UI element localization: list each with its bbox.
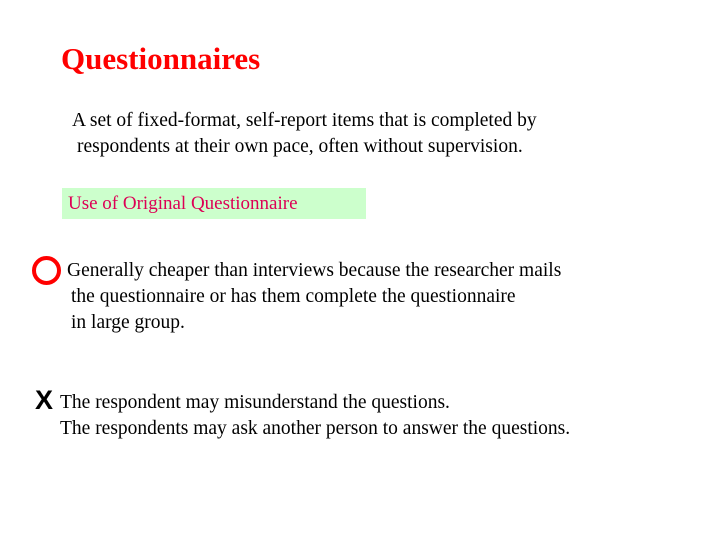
bullet-1-line-2: the questionnaire or has them complete t… [67,284,697,310]
bullet-1-text: Generally cheaper than interviews becaus… [67,258,697,336]
bullet-2-line-2: The respondents may ask another person t… [60,416,705,442]
bullet-2-text: The respondent may misunderstand the que… [60,390,705,442]
bullet-1-line-1: Generally cheaper than interviews becaus… [67,258,697,284]
black-x-icon: X [31,386,57,414]
subheading-highlight-box: Use of Original Questionnaire [62,188,366,219]
subheading-label: Use of Original Questionnaire [68,192,298,216]
bullet-1-line-3: in large group. [67,310,697,336]
definition-paragraph: A set of fixed-format, self-report items… [72,108,692,160]
slide-canvas: Questionnaires A set of fixed-format, se… [0,0,719,539]
definition-line-2: respondents at their own pace, often wit… [72,134,692,160]
definition-line-1: A set of fixed-format, self-report items… [72,108,692,134]
bullet-2-line-1: The respondent may misunderstand the que… [60,390,705,416]
red-circle-icon [32,256,61,285]
page-title: Questionnaires [61,41,260,77]
